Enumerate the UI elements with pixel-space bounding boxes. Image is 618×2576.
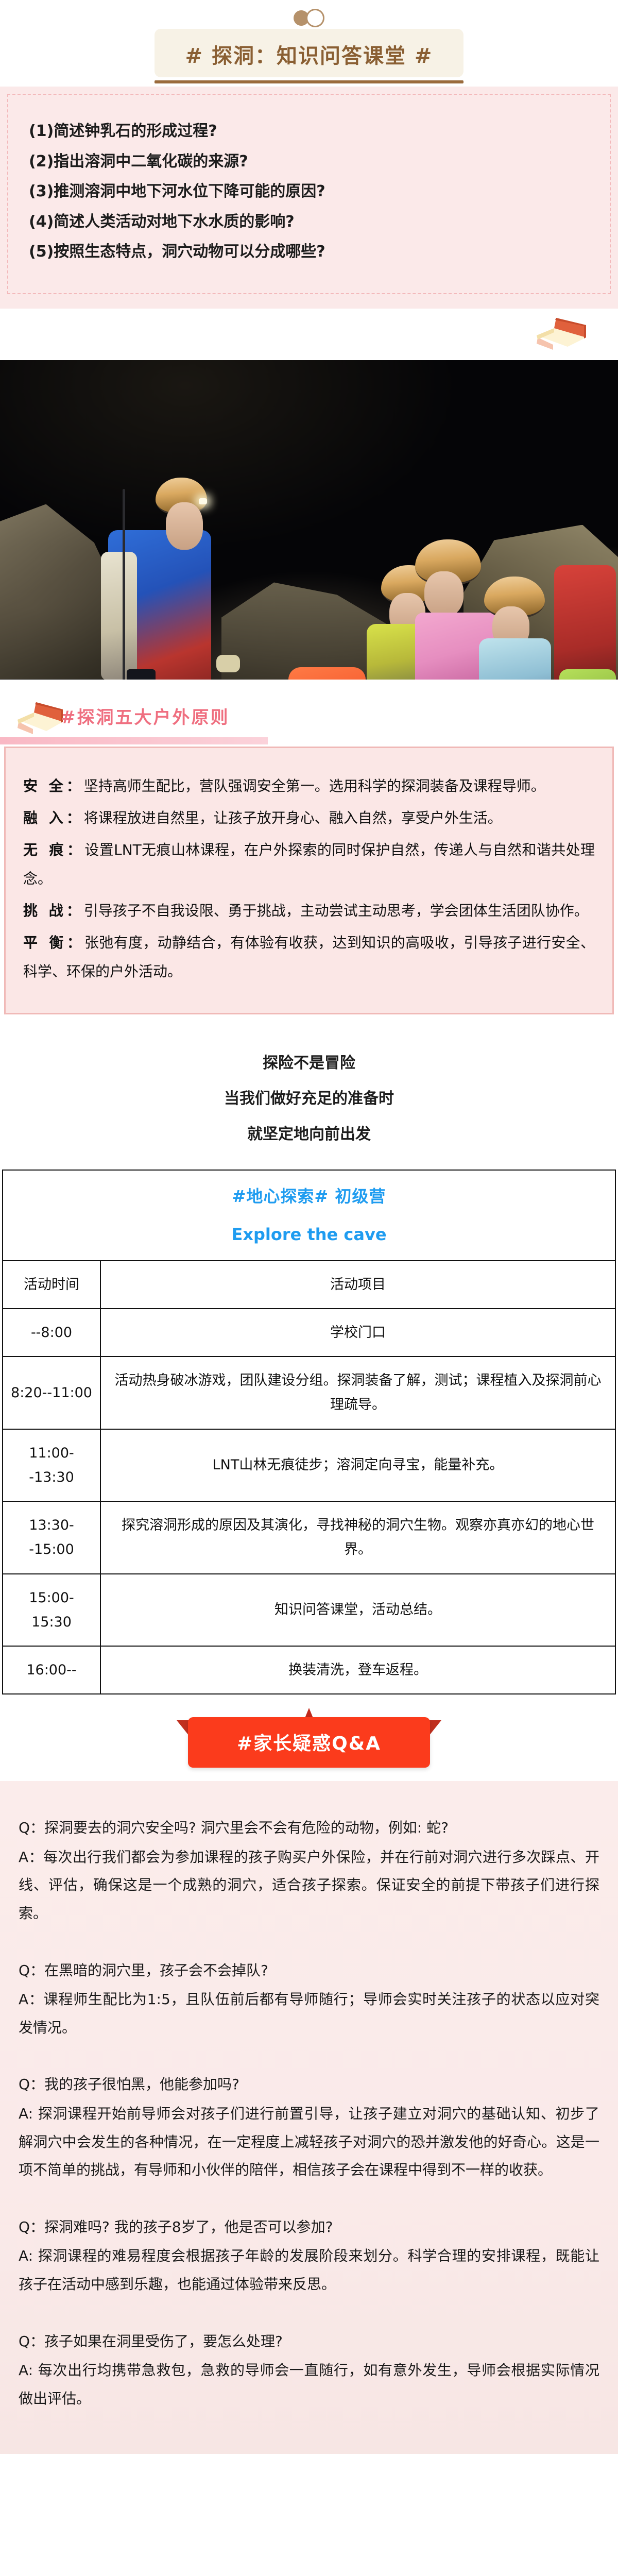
qa-answer: A: 探洞课程开始前导师会对孩子们进行前置引导，让孩子建立对洞穴的基础认知、初步… <box>19 2100 599 2184</box>
table-row: 8:20--11:00 活动热身破冰游戏，团队建设分组。探洞装备了解，测试；课程… <box>3 1357 615 1429</box>
qa-banner-label: #家长疑惑Q&A <box>237 1733 381 1754</box>
cell-time: --8:00 <box>3 1309 100 1357</box>
cell-time: 8:20--11:00 <box>3 1357 100 1429</box>
question-item: (2)指出溶洞中二氧化碳的来源? <box>29 147 589 177</box>
qa-answer: A: 每次出行均携带急救包，急救的导师会一直随行，如有意外发生，导师会根据实际情… <box>19 2357 599 2413</box>
questions-band: (1)简述钟乳石的形成过程? (2)指出溶洞中二氧化碳的来源? (3)推测溶洞中… <box>0 87 618 309</box>
slogan-block: 探险不是冒险 当我们做好充足的准备时 就坚定地向前出发 <box>0 1014 618 1170</box>
cell-time: 11:00--13:30 <box>3 1429 100 1502</box>
title-plate: # 探洞：知识问答课堂 # <box>154 29 463 77</box>
question-item: (4)简述人类活动对地下水水质的影响? <box>29 207 589 238</box>
slogan-line: 探险不是冒险 <box>0 1045 618 1081</box>
qa-item: Q：在黑暗的洞穴里，孩子会不会掉队? A：课程师生配比为1:5，且队伍前后都有导… <box>19 1957 599 2042</box>
principle-term: 平 衡： <box>23 934 84 951</box>
schedule-table: #地心探索# 初级营 Explore the cave 活动时间 活动项目 --… <box>2 1170 616 1695</box>
principles-box: 安 全：坚持高师生配比，营队强调安全第一。选用科学的探洞装备及课程导师。 融 入… <box>4 747 614 1014</box>
principle-item: 平 衡：张弛有度，动静结合，有体验有收获，达到知识的高吸收，引导孩子进行安全、科… <box>23 928 595 986</box>
qa-item: Q：探洞要去的洞穴安全吗? 洞穴里会不会有危险的动物，例如: 蛇? A：每次出行… <box>19 1814 599 1927</box>
cave-photo <box>0 360 618 680</box>
heading-underline <box>0 737 268 744</box>
column-header-activity: 活动项目 <box>100 1261 615 1309</box>
cell-activity: 知识问答课堂，活动总结。 <box>100 1574 615 1647</box>
cell-activity: 探究溶洞形成的原因及其演化，寻找神秘的洞穴生物。观察亦真亦幻的地心世界。 <box>100 1501 615 1574</box>
qa-item: Q：探洞难吗? 我的孩子8岁了，他是否可以参加? A: 探洞课程的难易程度会根据… <box>19 2213 599 2299</box>
question-item: (1)简述钟乳石的形成过程? <box>29 116 589 147</box>
table-row: 13:30--15:00 探究溶洞形成的原因及其演化，寻找神秘的洞穴生物。观察亦… <box>3 1501 615 1574</box>
qa-section: Q：探洞要去的洞穴安全吗? 洞穴里会不会有危险的动物，例如: 蛇? A：每次出行… <box>0 1781 618 2454</box>
principle-text: 引导孩子不自我设限、勇于挑战，主动尝试主动思考，学会团体生活团队协作。 <box>84 902 589 919</box>
principle-text: 设置LNT无痕山林课程，在户外探索的同时保护自然，传递人与自然和谐共处理念。 <box>23 841 595 887</box>
table-row: 11:00--13:30 LNT山林无痕徒步；溶洞定向寻宝，能量补充。 <box>3 1429 615 1502</box>
qa-question: Q：我的孩子很怕黑，他能参加吗? <box>19 2071 599 2099</box>
page-title: # 探洞：知识问答课堂 # <box>154 39 463 69</box>
table-caption-cell: #地心探索# 初级营 Explore the cave <box>3 1170 615 1261</box>
qa-banner-body: #家长疑惑Q&A <box>188 1717 430 1768</box>
cell-activity: 换装清洗，登车返程。 <box>100 1646 615 1694</box>
principles-heading-block: #探洞五大户外原则 <box>0 680 618 747</box>
table-caption-row: #地心探索# 初级营 Explore the cave <box>3 1170 615 1261</box>
cell-time: 13:30--15:00 <box>3 1501 100 1574</box>
decoration-strip <box>0 309 618 360</box>
principle-item: 融 入：将课程放进自然里，让孩子放开身心、融入自然，享受户外生活。 <box>23 804 595 833</box>
table-row: 16:00-- 换装清洗，登车返程。 <box>3 1646 615 1694</box>
principle-term: 挑 战： <box>23 902 84 919</box>
title-underline <box>154 80 463 83</box>
qa-question: Q：孩子如果在洞里受伤了，要怎么处理? <box>19 2328 599 2356</box>
qa-banner-wrap: #家长疑惑Q&A <box>0 1700 618 1781</box>
questions-box: (1)简述钟乳石的形成过程? (2)指出溶洞中二氧化碳的来源? (3)推测溶洞中… <box>7 94 611 294</box>
principle-term: 无 痕： <box>23 841 84 858</box>
camp-name-en: Explore the cave <box>10 1220 608 1249</box>
slogan-line: 就坚定地向前出发 <box>0 1116 618 1152</box>
schedule-table-wrap: #地心探索# 初级营 Explore the cave 活动时间 活动项目 --… <box>0 1170 618 1700</box>
camp-name-cn: #地心探索# 初级营 <box>10 1182 608 1211</box>
banner-ribbon-left-icon <box>177 1720 189 1736</box>
principle-text: 将课程放进自然里，让孩子放开身心、融入自然，享受户外生活。 <box>84 809 502 826</box>
question-item: (5)按照生态特点，洞穴动物可以分成哪些? <box>29 237 589 267</box>
book-icon <box>533 315 589 351</box>
table-row: 15:00-15:30 知识问答课堂，活动总结。 <box>3 1574 615 1647</box>
qa-banner: #家长疑惑Q&A <box>188 1717 430 1768</box>
qa-item: Q：孩子如果在洞里受伤了，要怎么处理? A: 每次出行均携带急救包，急救的导师会… <box>19 2328 599 2413</box>
principles-heading: #探洞五大户外原则 <box>61 703 230 728</box>
slogan-line: 当我们做好充足的准备时 <box>0 1081 618 1116</box>
principle-item: 挑 战：引导孩子不自我设限、勇于挑战，主动尝试主动思考，学会团体生活团队协作。 <box>23 896 595 925</box>
table-header-row: 活动时间 活动项目 <box>3 1261 615 1309</box>
principle-text: 坚持高师生配比，营队强调安全第一。选用科学的探洞装备及课程导师。 <box>84 777 545 794</box>
cell-activity: 学校门口 <box>100 1309 615 1357</box>
column-header-time: 活动时间 <box>3 1261 100 1309</box>
qa-item: Q：我的孩子很怕黑，他能参加吗? A: 探洞课程开始前导师会对孩子们进行前置引导… <box>19 2071 599 2184</box>
principle-item: 安 全：坚持高师生配比，营队强调安全第一。选用科学的探洞装备及课程导师。 <box>23 772 595 801</box>
principle-term: 融 入： <box>23 809 84 826</box>
qa-question: Q：探洞难吗? 我的孩子8岁了，他是否可以参加? <box>19 2213 599 2242</box>
banner-ribbon-right-icon <box>429 1720 441 1736</box>
qa-question: Q：在黑暗的洞穴里，孩子会不会掉队? <box>19 1957 599 1985</box>
principle-term: 安 全： <box>23 777 84 794</box>
cell-time: 15:00-15:30 <box>3 1574 100 1647</box>
table-row: --8:00 学校门口 <box>3 1309 615 1357</box>
decor-dots <box>0 7 618 29</box>
cell-activity: LNT山林无痕徒步；溶洞定向寻宝，能量补充。 <box>100 1429 615 1502</box>
principle-item: 无 痕：设置LNT无痕山林课程，在户外探索的同时保护自然，传递人与自然和谐共处理… <box>23 836 595 893</box>
cell-time: 16:00-- <box>3 1646 100 1694</box>
question-item: (3)推测溶洞中地下河水位下降可能的原因? <box>29 177 589 207</box>
qa-answer: A：课程师生配比为1:5，且队伍前后都有导师随行；导师会实时关注孩子的状态以应对… <box>19 1986 599 2042</box>
qa-answer: A: 探洞课程的难易程度会根据孩子年龄的发展阶段来划分。科学合理的安排课程，既能… <box>19 2242 599 2298</box>
article-page: # 探洞：知识问答课堂 # (1)简述钟乳石的形成过程? (2)指出溶洞中二氧化… <box>0 0 618 2454</box>
orange-bag <box>288 667 366 680</box>
circle-outline-icon <box>306 9 324 27</box>
qa-answer: A：每次出行我们都会为参加课程的孩子购买户外保险，并在行前对洞穴进行多次踩点、开… <box>19 1843 599 1928</box>
book-icon <box>15 699 65 735</box>
qa-question: Q：探洞要去的洞穴安全吗? 洞穴里会不会有危险的动物，例如: 蛇? <box>19 1814 599 1842</box>
page-header: # 探洞：知识问答课堂 # <box>0 0 618 87</box>
cell-activity: 活动热身破冰游戏，团队建设分组。探洞装备了解，测试；课程植入及探洞前心理疏导。 <box>100 1357 615 1429</box>
principle-text: 张弛有度，动静结合，有体验有收获，达到知识的高吸收，引导孩子进行安全、科学、环保… <box>23 934 595 980</box>
